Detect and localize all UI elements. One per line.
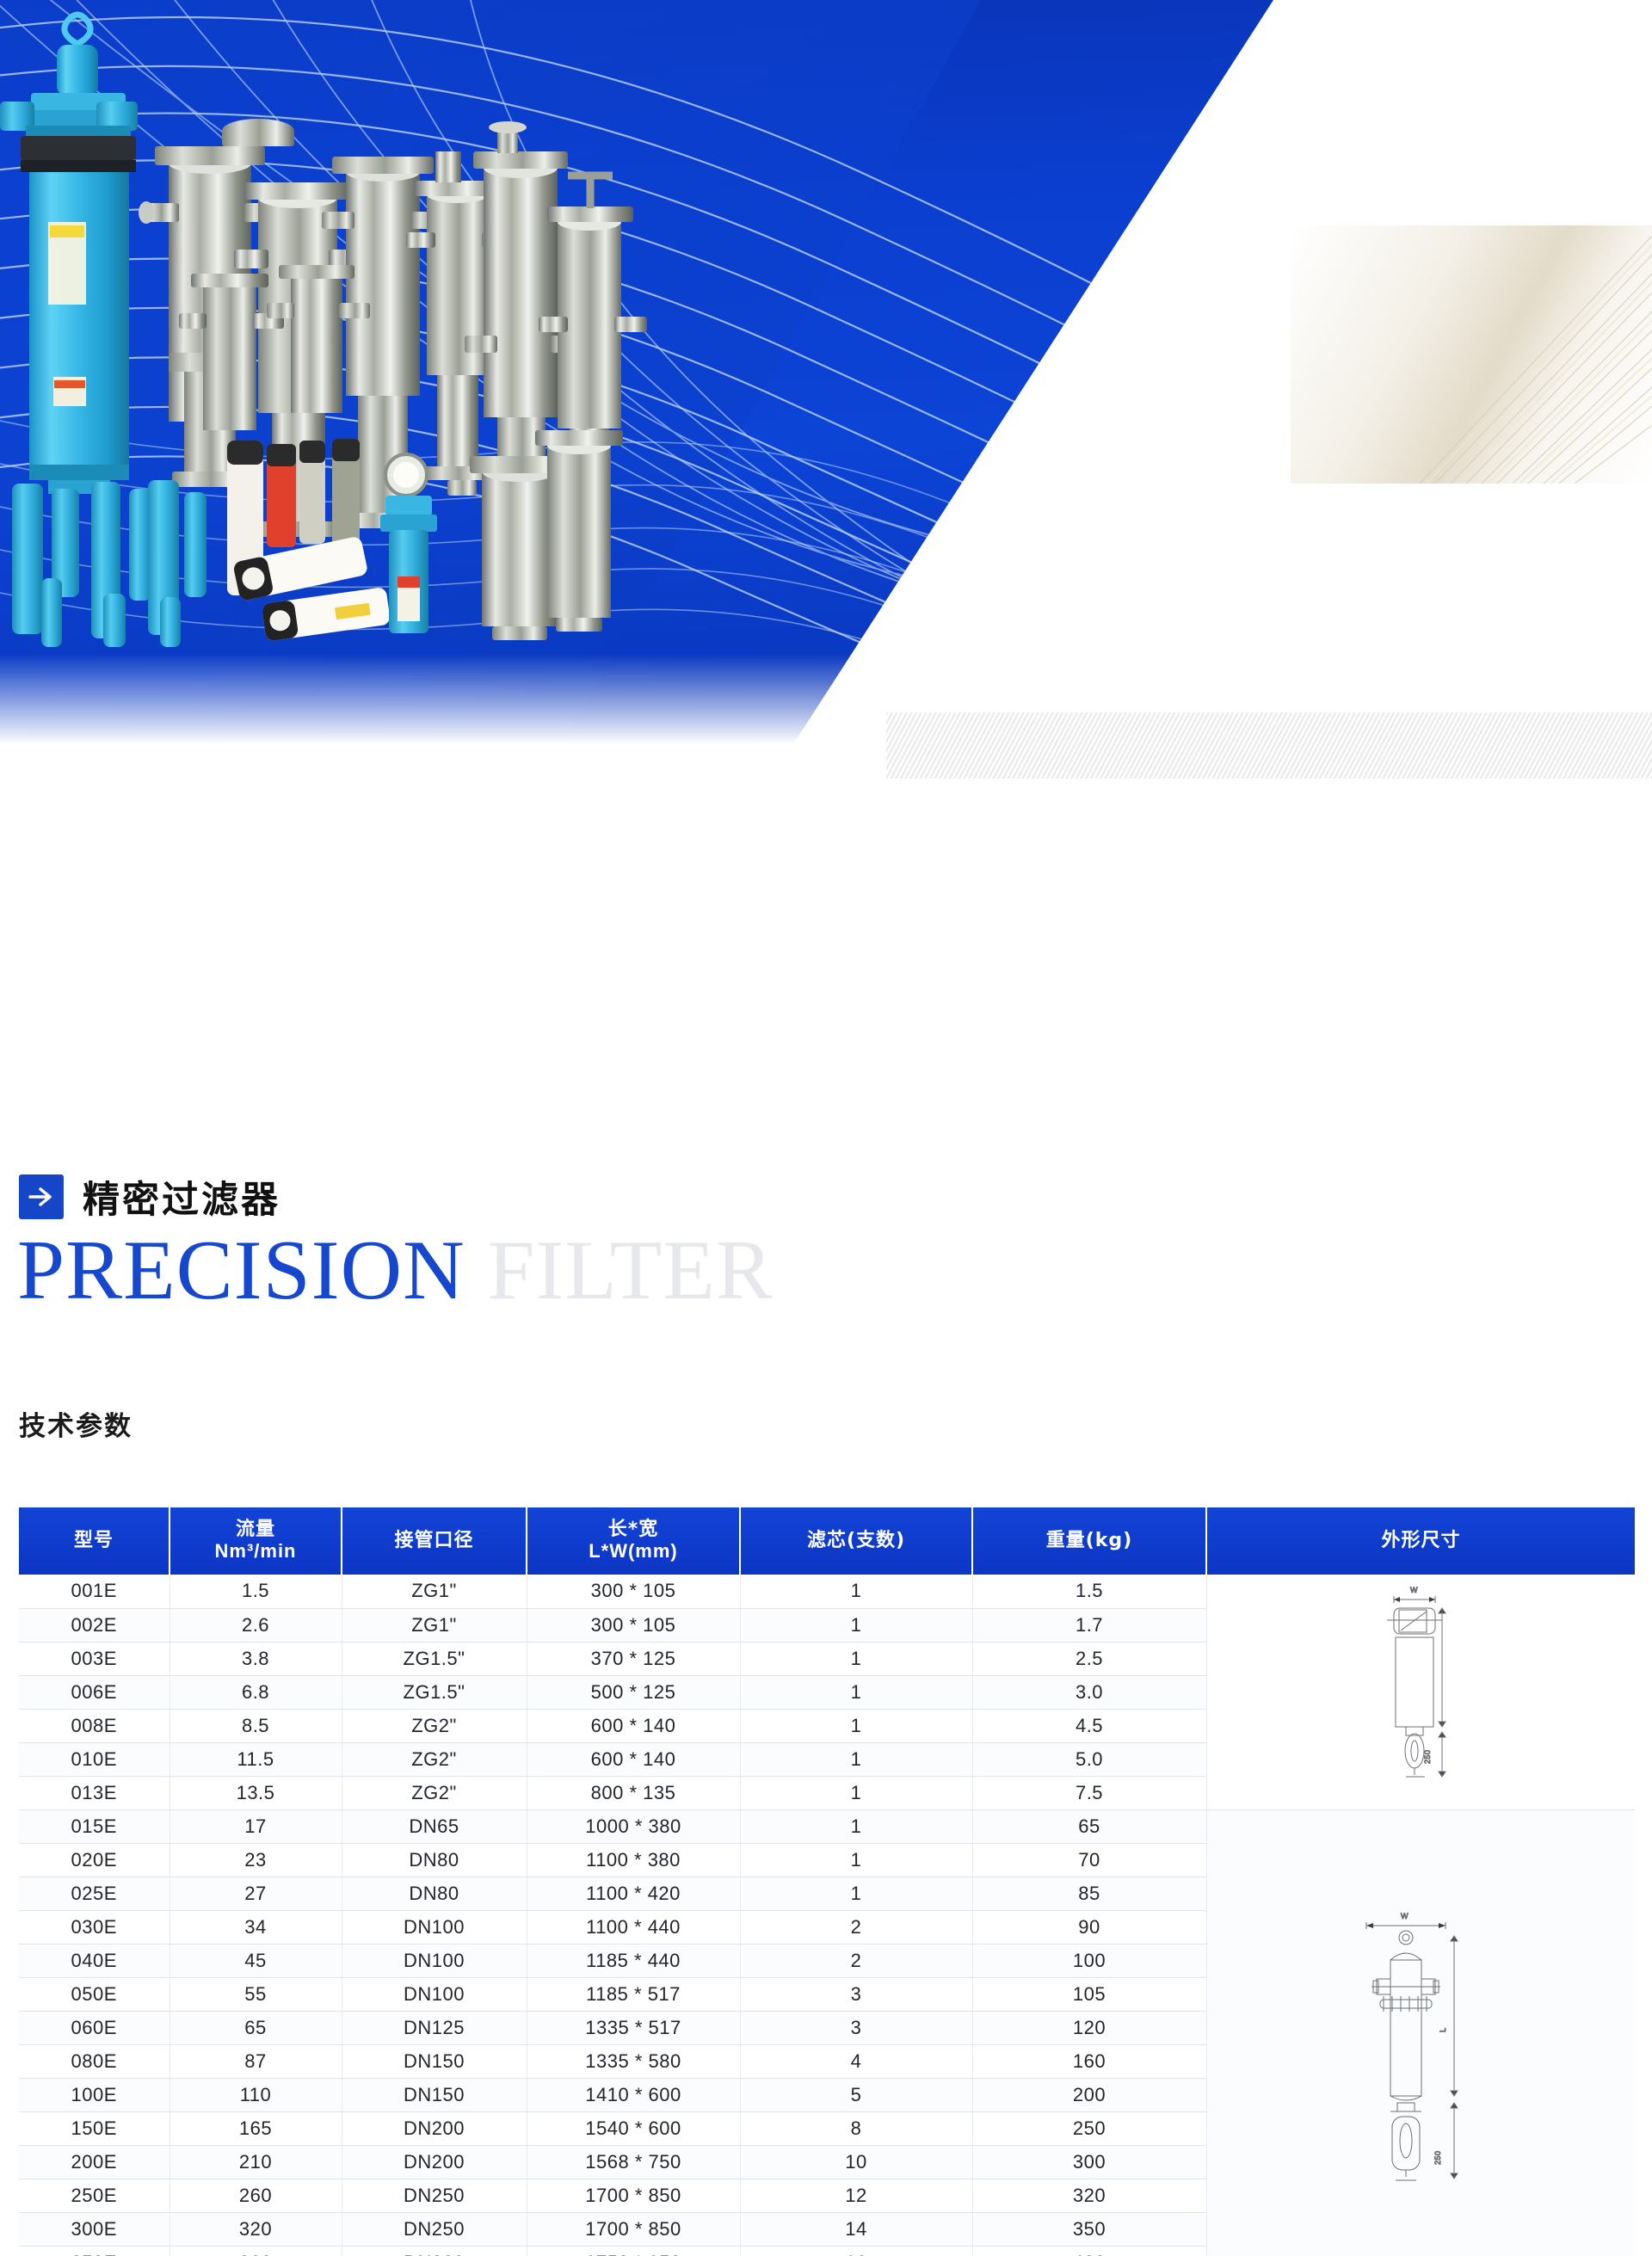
- cell-elements: 1: [740, 1843, 972, 1877]
- spec-table-wrapper: 型号 流量 Nm³/min 接管口径 长*宽 L*W(mm) 滤芯(支数): [19, 1507, 1635, 2256]
- cell-flow: 210: [170, 2145, 342, 2179]
- cell-weight: 65: [972, 1809, 1206, 1843]
- cell-weight: 300: [972, 2145, 1206, 2179]
- cell-port: ZG2": [342, 1709, 527, 1742]
- page-title: PRECISION FILTER: [17, 1228, 774, 1313]
- cell-weight: 105: [972, 1977, 1206, 2011]
- spec-table-body: 001E1.5ZG1"300 * 10511.5W250002E2.6ZG1"3…: [19, 1575, 1635, 2256]
- cell-size: 1568 * 750: [527, 2145, 740, 2179]
- cell-weight: 200: [972, 2078, 1206, 2111]
- cell-weight: 2.5: [972, 1642, 1206, 1675]
- cell-flow: 87: [170, 2044, 342, 2078]
- title-block: 精密过滤器 PRECISION FILTER 技术参数: [0, 800, 1652, 1506]
- cell-weight: 350: [972, 2212, 1206, 2246]
- spec-section-label: 技术参数: [19, 1404, 133, 1443]
- cell-flow: 2.6: [170, 1608, 342, 1642]
- cell-size: 1750 * 950: [527, 2246, 740, 2256]
- cell-port: ZG2": [342, 1776, 527, 1809]
- cell-model: 250E: [19, 2179, 170, 2212]
- cell-flow: 110: [170, 2078, 342, 2111]
- cell-size: 300 * 105: [527, 1608, 740, 1642]
- section-heading-cn: 精密过滤器: [83, 1170, 280, 1224]
- cell-flow: 260: [170, 2179, 342, 2212]
- cell-port: ZG2": [342, 1742, 527, 1776]
- cell-flow: 165: [170, 2111, 342, 2145]
- cell-flow: 17: [170, 1809, 342, 1843]
- cell-weight: 85: [972, 1877, 1206, 1910]
- cell-port: DN250: [342, 2179, 527, 2212]
- cell-port: ZG1.5": [342, 1642, 527, 1675]
- cell-elements: 4: [740, 2044, 972, 2078]
- col-header-port-size: 接管口径: [342, 1507, 527, 1575]
- cell-elements: 1: [740, 1675, 972, 1709]
- drawing-box-small: W250: [1207, 1579, 1636, 1804]
- cell-model: 100E: [19, 2078, 170, 2111]
- cell-size: 600 * 140: [527, 1709, 740, 1742]
- cell-elements: 2: [740, 1910, 972, 1944]
- cell-flow: 1.5: [170, 1575, 342, 1608]
- cell-weight: 5.0: [972, 1742, 1206, 1776]
- cell-elements: 8: [740, 2111, 972, 2145]
- arrow-right-icon: [19, 1174, 64, 1219]
- cell-model: 010E: [19, 1742, 170, 1776]
- cell-model: 015E: [19, 1809, 170, 1843]
- cell-size: 1540 * 600: [527, 2111, 740, 2145]
- cell-elements: 5: [740, 2078, 972, 2111]
- cell-elements: 1: [740, 1608, 972, 1642]
- svg-text:L: L: [1439, 2027, 1447, 2032]
- cell-weight: 160: [972, 2044, 1206, 2078]
- svg-text:W: W: [1410, 1586, 1418, 1594]
- cell-port: DN100: [342, 1910, 527, 1944]
- cell-elements: 2: [740, 1944, 972, 1977]
- cell-size: 1000 * 380: [527, 1809, 740, 1843]
- cell-port: DN80: [342, 1843, 527, 1877]
- cell-port: DN80: [342, 1877, 527, 1910]
- cell-size: 600 * 140: [527, 1742, 740, 1776]
- cell-elements: 3: [740, 1977, 972, 2011]
- cell-port: DN65: [342, 1809, 527, 1843]
- cell-elements: 1: [740, 1575, 972, 1608]
- cell-flow: 27: [170, 1877, 342, 1910]
- table-row: 001E1.5ZG1"300 * 10511.5W250: [19, 1575, 1635, 1608]
- cell-flow: 3.8: [170, 1642, 342, 1675]
- cell-port: ZG1": [342, 1575, 527, 1608]
- col-header-element-count: 滤芯(支数): [740, 1507, 972, 1575]
- col-header-model: 型号: [19, 1507, 170, 1575]
- cell-flow: 320: [170, 2212, 342, 2246]
- cell-flow: 11.5: [170, 1742, 342, 1776]
- cell-port: DN250: [342, 2212, 527, 2246]
- cell-model: 060E: [19, 2011, 170, 2044]
- catalog-page: 精密过滤器 PRECISION FILTER 技术参数 型号 流量 Nm³/mi…: [0, 0, 1652, 2256]
- cell-size: 300 * 105: [527, 1575, 740, 1608]
- col-header-flow: 流量 Nm³/min: [170, 1507, 342, 1575]
- cell-model: 050E: [19, 1977, 170, 2011]
- cell-size: 1700 * 850: [527, 2212, 740, 2246]
- cell-port: DN125: [342, 2011, 527, 2044]
- filter-element-pleat-lines: [1291, 225, 1652, 484]
- cell-model: 040E: [19, 1944, 170, 1977]
- section-heading: 精密过滤器: [19, 1170, 280, 1224]
- cell-flow: 45: [170, 1944, 342, 1977]
- cell-port: DN150: [342, 2044, 527, 2078]
- cell-port: ZG1.5": [342, 1675, 527, 1709]
- cell-model: 080E: [19, 2044, 170, 2078]
- cell-model: 025E: [19, 1877, 170, 1910]
- cell-weight: 320: [972, 2179, 1206, 2212]
- cell-model: 150E: [19, 2111, 170, 2145]
- cell-model: 003E: [19, 1642, 170, 1675]
- outline-drawing-large: WL250: [1206, 1809, 1635, 2256]
- cell-elements: 1: [740, 1642, 972, 1675]
- cell-port: DN100: [342, 1944, 527, 1977]
- page-title-primary: PRECISION: [17, 1224, 465, 1317]
- cell-size: 1100 * 420: [527, 1877, 740, 1910]
- cell-model: 300E: [19, 2212, 170, 2246]
- cell-size: 1410 * 600: [527, 2078, 740, 2111]
- hero-banner: [0, 0, 1652, 800]
- cell-flow: 8.5: [170, 1709, 342, 1742]
- cell-model: 013E: [19, 1776, 170, 1809]
- drawing-box-large: WL250: [1207, 1907, 1636, 2216]
- cell-weight: 70: [972, 1843, 1206, 1877]
- cell-weight: 1.5: [972, 1575, 1206, 1608]
- cell-model: 001E: [19, 1575, 170, 1608]
- cell-elements: 10: [740, 2145, 972, 2179]
- outline-drawing-small: W250: [1206, 1575, 1635, 1809]
- cell-size: 1335 * 580: [527, 2044, 740, 2078]
- svg-text:250: 250: [1433, 2150, 1442, 2165]
- cell-port: DN200: [342, 2111, 527, 2145]
- cell-elements: 3: [740, 2011, 972, 2044]
- cell-model: 020E: [19, 1843, 170, 1877]
- cell-model: 200E: [19, 2145, 170, 2179]
- cell-elements: 16: [740, 2246, 972, 2256]
- cell-port: DN200: [342, 2145, 527, 2179]
- cell-weight: 90: [972, 1910, 1206, 1944]
- cell-port: DN300: [342, 2246, 527, 2256]
- cell-weight: 4.5: [972, 1709, 1206, 1742]
- cell-elements: 1: [740, 1877, 972, 1910]
- cell-size: 1700 * 850: [527, 2179, 740, 2212]
- svg-text:250: 250: [1423, 1750, 1432, 1765]
- col-header-outline-drawing: 外形尺寸: [1206, 1507, 1635, 1575]
- cell-size: 1185 * 517: [527, 1977, 740, 2011]
- cell-model: 006E: [19, 1675, 170, 1709]
- cell-port: DN100: [342, 1977, 527, 2011]
- cell-flow: 65: [170, 2011, 342, 2044]
- svg-text:W: W: [1401, 1912, 1409, 1920]
- cell-elements: 1: [740, 1709, 972, 1742]
- cell-port: ZG1": [342, 1608, 527, 1642]
- cell-model: 008E: [19, 1709, 170, 1742]
- table-row: 015E17DN651000 * 380165WL250: [19, 1809, 1635, 1843]
- cell-weight: 7.5: [972, 1776, 1206, 1809]
- spec-table: 型号 流量 Nm³/min 接管口径 长*宽 L*W(mm) 滤芯(支数): [19, 1507, 1635, 2256]
- cell-flow: 360: [170, 2246, 342, 2256]
- cell-size: 1100 * 440: [527, 1910, 740, 1944]
- spec-table-head: 型号 流量 Nm³/min 接管口径 长*宽 L*W(mm) 滤芯(支数): [19, 1507, 1635, 1575]
- cell-weight: 120: [972, 2011, 1206, 2044]
- large-filter-outline-drawing: WL250: [1339, 1907, 1502, 2216]
- cell-weight: 100: [972, 1944, 1206, 1977]
- cell-elements: 12: [740, 2179, 972, 2212]
- cell-weight: 3.0: [972, 1675, 1206, 1709]
- cell-size: 1335 * 517: [527, 2011, 740, 2044]
- cell-flow: 23: [170, 1843, 342, 1877]
- spec-header-row: 型号 流量 Nm³/min 接管口径 长*宽 L*W(mm) 滤芯(支数): [19, 1507, 1635, 1575]
- cell-elements: 1: [740, 1776, 972, 1809]
- cell-weight: 250: [972, 2111, 1206, 2145]
- cell-flow: 34: [170, 1910, 342, 1944]
- cell-size: 1100 * 380: [527, 1843, 740, 1877]
- cell-size: 370 * 125: [527, 1642, 740, 1675]
- cell-elements: 14: [740, 2212, 972, 2246]
- col-header-dimensions: 长*宽 L*W(mm): [527, 1507, 740, 1575]
- cell-model: 030E: [19, 1910, 170, 1944]
- cell-size: 1185 * 440: [527, 1944, 740, 1977]
- cell-model: 350E: [19, 2246, 170, 2256]
- cell-weight: 420: [972, 2246, 1206, 2256]
- cell-port: DN150: [342, 2078, 527, 2111]
- cell-model: 002E: [19, 1608, 170, 1642]
- cell-elements: 1: [740, 1742, 972, 1776]
- col-header-weight: 重量(kg): [972, 1507, 1206, 1575]
- cell-elements: 1: [740, 1809, 972, 1843]
- cell-size: 500 * 125: [527, 1675, 740, 1709]
- small-filter-outline-drawing: W250: [1356, 1579, 1485, 1804]
- cell-flow: 13.5: [170, 1776, 342, 1809]
- cell-size: 800 * 135: [527, 1776, 740, 1809]
- cell-flow: 6.8: [170, 1675, 342, 1709]
- hero-bottom-fade: [0, 779, 1652, 800]
- cell-flow: 55: [170, 1977, 342, 2011]
- page-title-secondary: FILTER: [487, 1224, 773, 1317]
- cell-weight: 1.7: [972, 1608, 1206, 1642]
